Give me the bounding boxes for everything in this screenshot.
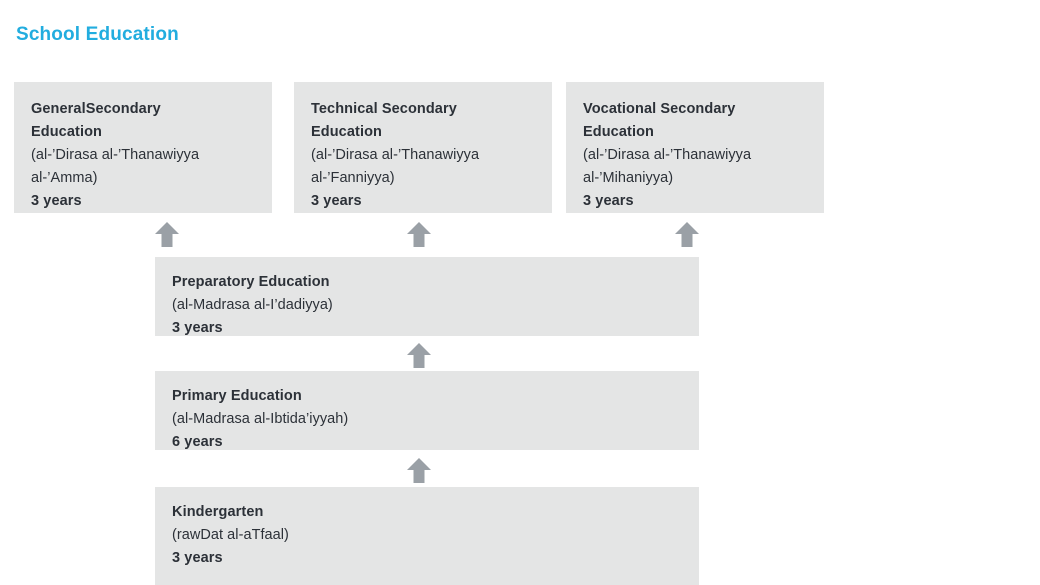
node-general-secondary-education: GeneralSecondary Education (al-’Dirasa a… — [14, 82, 272, 213]
node-primary-education: Primary Education (al-Madrasa al-Ibtida’… — [155, 371, 699, 450]
node-transliteration-line2: al-’Amma) — [31, 167, 255, 190]
node-kindergarten: Kindergarten (rawDat al-aTfaal) 3 years — [155, 487, 699, 585]
node-title-line2: Education — [31, 121, 255, 144]
node-duration: 3 years — [172, 317, 682, 340]
arrow-up-icon-to-vocational-secondary — [674, 221, 700, 248]
node-transliteration-line1: (al-’Dirasa al-’Thanawiyya — [583, 144, 807, 167]
node-duration: 6 years — [172, 431, 682, 454]
node-technical-secondary-education: Technical Secondary Education (al-’Diras… — [294, 82, 552, 213]
node-transliteration-line1: (al-’Dirasa al-’Thanawiyya — [311, 144, 535, 167]
node-vocational-secondary-education: Vocational Secondary Education (al-’Dira… — [566, 82, 824, 213]
arrow-up-icon-to-technical-secondary — [406, 221, 432, 248]
node-preparatory-education: Preparatory Education (al-Madrasa al-I’d… — [155, 257, 699, 336]
node-title-line2: Education — [311, 121, 535, 144]
node-transliteration: (rawDat al-aTfaal) — [172, 524, 682, 547]
node-duration: 3 years — [31, 190, 255, 213]
page-title: School Education — [16, 24, 179, 46]
node-transliteration-line1: (al-’Dirasa al-’Thanawiyya — [31, 144, 255, 167]
arrow-up-icon-kindergarten-to-primary — [406, 457, 432, 484]
node-title: Primary Education — [172, 385, 682, 408]
node-title: Preparatory Education — [172, 271, 682, 294]
node-transliteration: (al-Madrasa al-I’dadiyya) — [172, 294, 682, 317]
node-duration: 3 years — [583, 190, 807, 213]
node-transliteration-line2: al-’Mihaniyya) — [583, 167, 807, 190]
node-duration: 3 years — [172, 547, 682, 570]
node-duration: 3 years — [311, 190, 535, 213]
node-transliteration: (al-Madrasa al-Ibtida’iyyah) — [172, 408, 682, 431]
node-title: Kindergarten — [172, 501, 682, 524]
school-education-diagram: School Education GeneralSecondary Educat… — [0, 0, 1040, 585]
arrow-up-icon-to-general-secondary — [154, 221, 180, 248]
node-title-line1: GeneralSecondary — [31, 98, 255, 121]
node-title-line2: Education — [583, 121, 807, 144]
node-transliteration-line2: al-’Fanniyya) — [311, 167, 535, 190]
node-title-line1: Technical Secondary — [311, 98, 535, 121]
node-title-line1: Vocational Secondary — [583, 98, 807, 121]
arrow-up-icon-primary-to-preparatory — [406, 342, 432, 369]
